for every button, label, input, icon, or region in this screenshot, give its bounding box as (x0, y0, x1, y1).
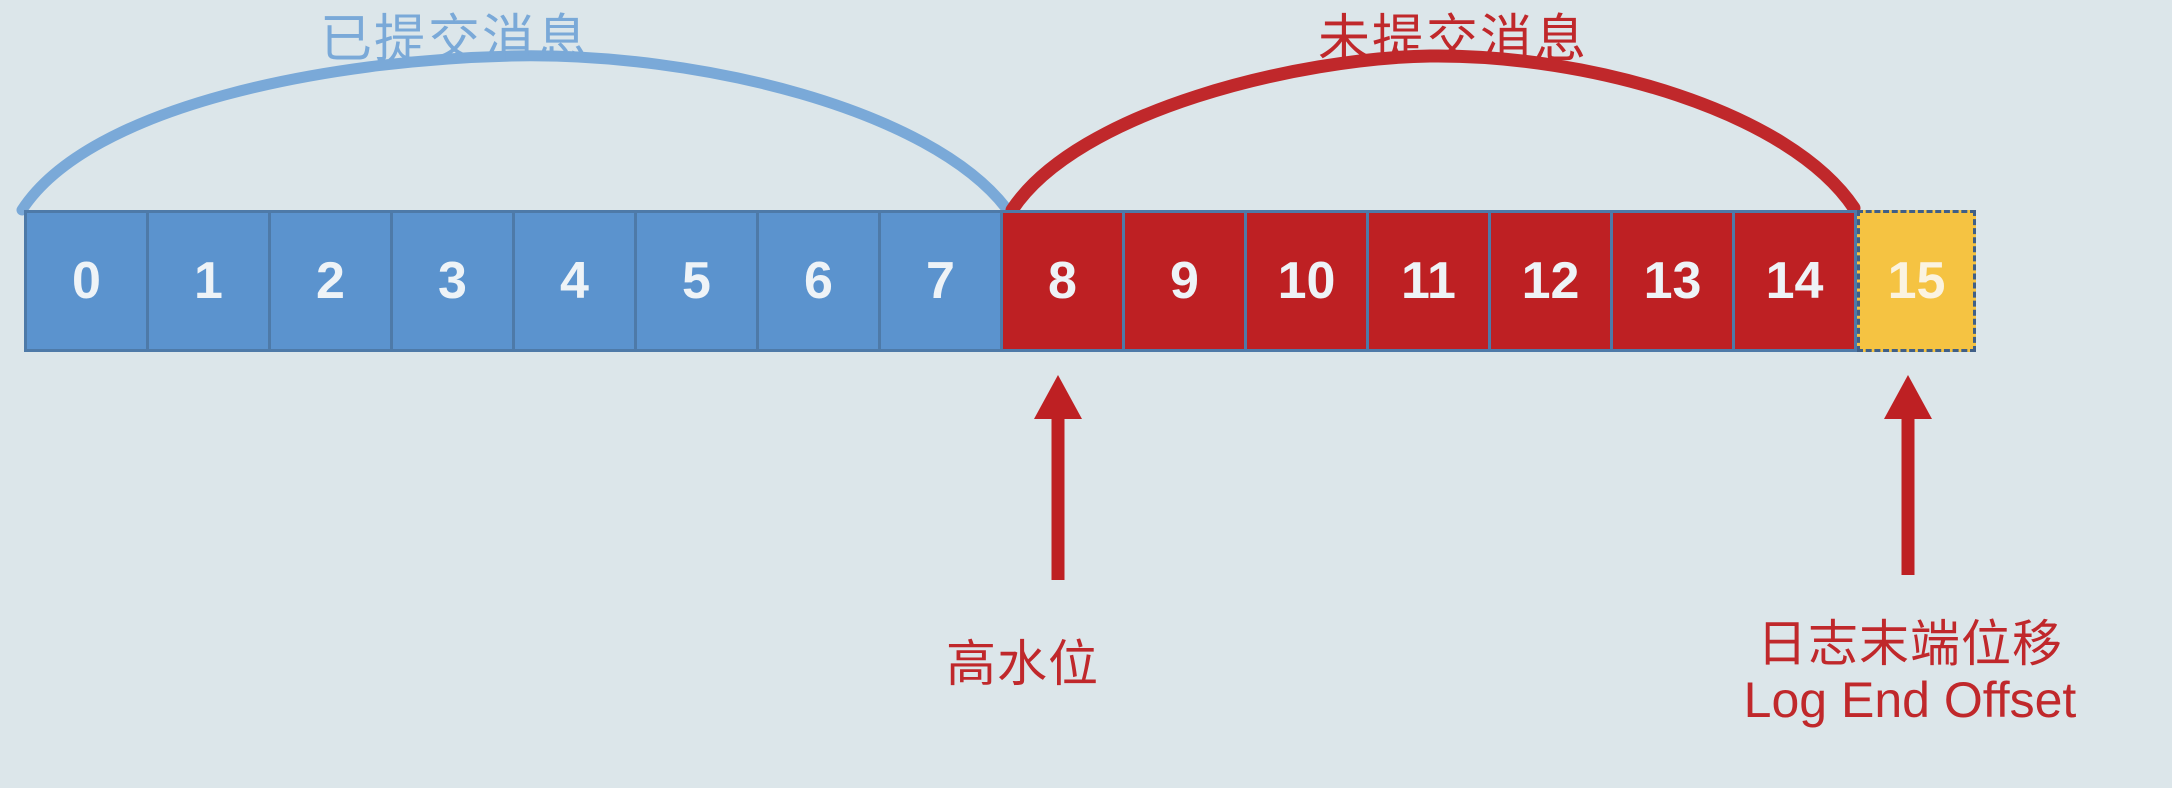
log-cell-11: 11 (1369, 213, 1491, 349)
log-end-offset-caption-line2: Log End Offset (1744, 672, 2077, 728)
log-cell-14: 14 (1735, 213, 1857, 349)
log-cell-13: 13 (1613, 213, 1735, 349)
log-cell-8: 8 (1003, 213, 1125, 349)
log-cell-5: 5 (637, 213, 759, 349)
log-cell-6: 6 (759, 213, 881, 349)
log-cell-2: 2 (271, 213, 393, 349)
log-cell-0: 0 (27, 213, 149, 349)
log-cell-4: 4 (515, 213, 637, 349)
log-cell-15: 15 (1857, 210, 1976, 352)
log-end-offset-caption: 日志末端位移 Log End Offset (1744, 616, 2077, 728)
log-end-offset-caption-line1: 日志末端位移 (1757, 616, 2063, 672)
committed-bracket-arc (22, 56, 1006, 210)
uncommitted-bracket-arc (1012, 56, 1854, 210)
log-cell-9: 9 (1125, 213, 1247, 349)
log-end-offset-arrow (1878, 375, 1938, 575)
high-watermark-caption: 高水位 (946, 636, 1099, 692)
uncommitted-bracket-label: 未提交消息 (1318, 14, 1588, 66)
committed-bracket-label: 已提交消息 (320, 14, 590, 66)
log-cell-7: 7 (881, 213, 1003, 349)
log-cell-1: 1 (149, 213, 271, 349)
diagram-canvas: 已提交消息 未提交消息 0123456789101112131415 高水位 日… (0, 0, 2172, 788)
high-watermark-arrow (1028, 375, 1088, 580)
log-bar: 0123456789101112131415 (24, 210, 1976, 352)
high-watermark-caption-line1: 高水位 (946, 636, 1099, 692)
log-cell-12: 12 (1491, 213, 1613, 349)
log-cell-10: 10 (1247, 213, 1369, 349)
log-cell-3: 3 (393, 213, 515, 349)
